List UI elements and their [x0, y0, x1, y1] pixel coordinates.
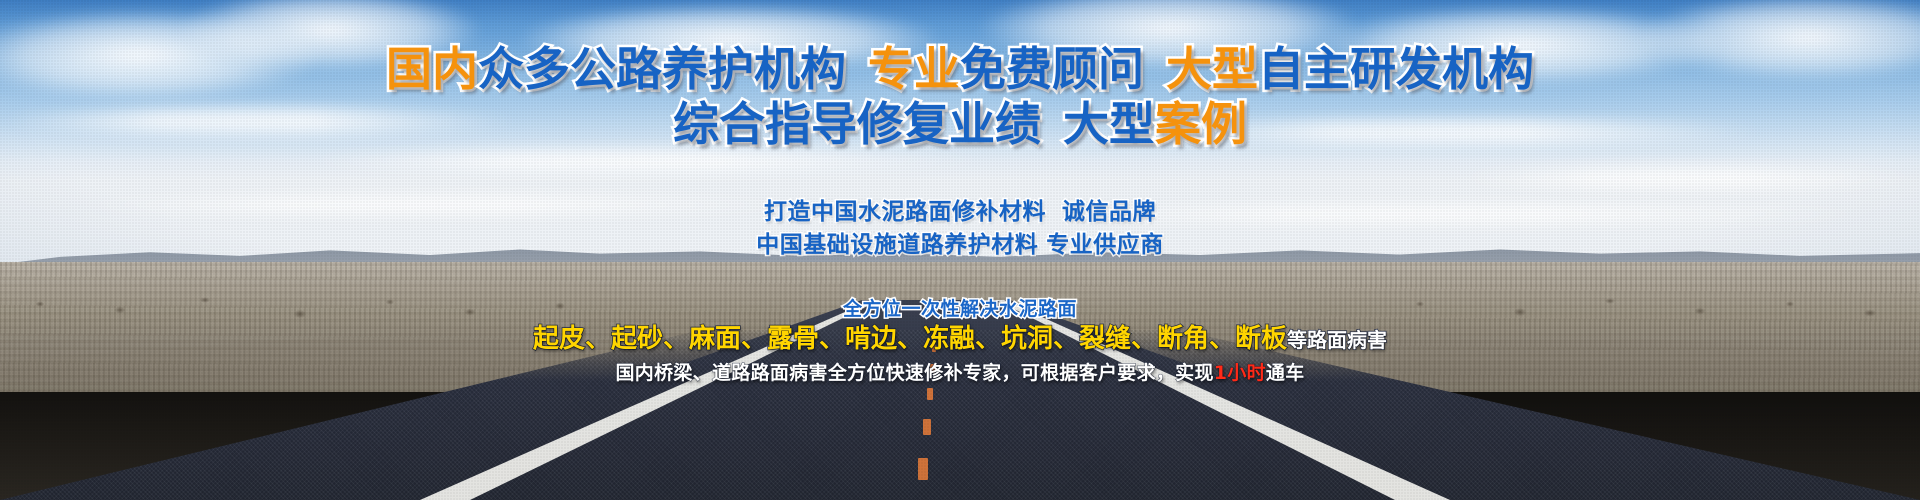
bottomblock-line-1: 全方位一次性解决水泥路面: [0, 294, 1920, 321]
headline-seg-mianfei: 免费顾问: [960, 42, 1144, 96]
headline-seg-zonghe: 综合指导修复业绩: [673, 97, 1041, 151]
midblock-text-b: 诚信品牌: [1062, 199, 1156, 225]
headline-line-1: 国内众多公路养护机构专业免费顾问大型自主研发机构: [0, 46, 1920, 92]
bottom-text-expert-b: 通车: [1266, 362, 1305, 384]
midblock-text-c: 中国基础设施道路养护材料: [756, 232, 1038, 258]
headline-seg-zhuanye: 专业: [868, 42, 960, 96]
promo-banner: 国内众多公路养护机构专业免费顾问大型自主研发机构 综合指导修复业绩大型案例 打造…: [0, 0, 1920, 500]
headline-seg-zizhu: 自主研发机构: [1258, 42, 1534, 96]
bottomblock-line-3: 国内桥梁、道路路面病害全方位快速修补专家，可根据客户要求，实现1小时通车: [0, 358, 1920, 385]
bottom-text-solution: 全方位一次性解决水泥路面: [843, 298, 1077, 320]
bottom-text-disease-list: 起皮、起砂、麻面、露骨、啃边、冻融、坑洞、裂缝、断角、断板: [533, 324, 1287, 354]
banner-content: 国内众多公路养护机构专业免费顾问大型自主研发机构 综合指导修复业绩大型案例 打造…: [0, 0, 1920, 500]
headline-seg-guonei: 国内: [386, 42, 478, 96]
bottomblock-line-2: 起皮、起砂、麻面、露骨、啃边、冻融、坑洞、裂缝、断角、断板等路面病害: [0, 318, 1920, 355]
headline-line-2: 综合指导修复业绩大型案例: [0, 101, 1920, 147]
bottom-text-disease-tail: 等路面病害: [1287, 328, 1387, 352]
headline-seg-daxing: 大型: [1166, 42, 1258, 96]
headline-seg-zhongduo: 众多公路养护机构: [478, 42, 846, 96]
headline-seg-anli: 案例: [1155, 97, 1247, 151]
bottom-text-expert-a: 国内桥梁、道路路面病害全方位快速修补专家，可根据客户要求，实现: [615, 362, 1213, 384]
midblock-text-d: 专业供应商: [1046, 232, 1164, 258]
midblock-line-1: 打造中国水泥路面修补材料诚信品牌: [0, 192, 1920, 226]
headline-seg-daxing2: 大型: [1063, 97, 1155, 151]
midblock-text-a: 打造中国水泥路面修补材料: [764, 199, 1046, 225]
midblock-line-2: 中国基础设施道路养护材料专业供应商: [0, 225, 1920, 259]
bottom-text-hour-highlight: 1小时: [1214, 362, 1266, 384]
